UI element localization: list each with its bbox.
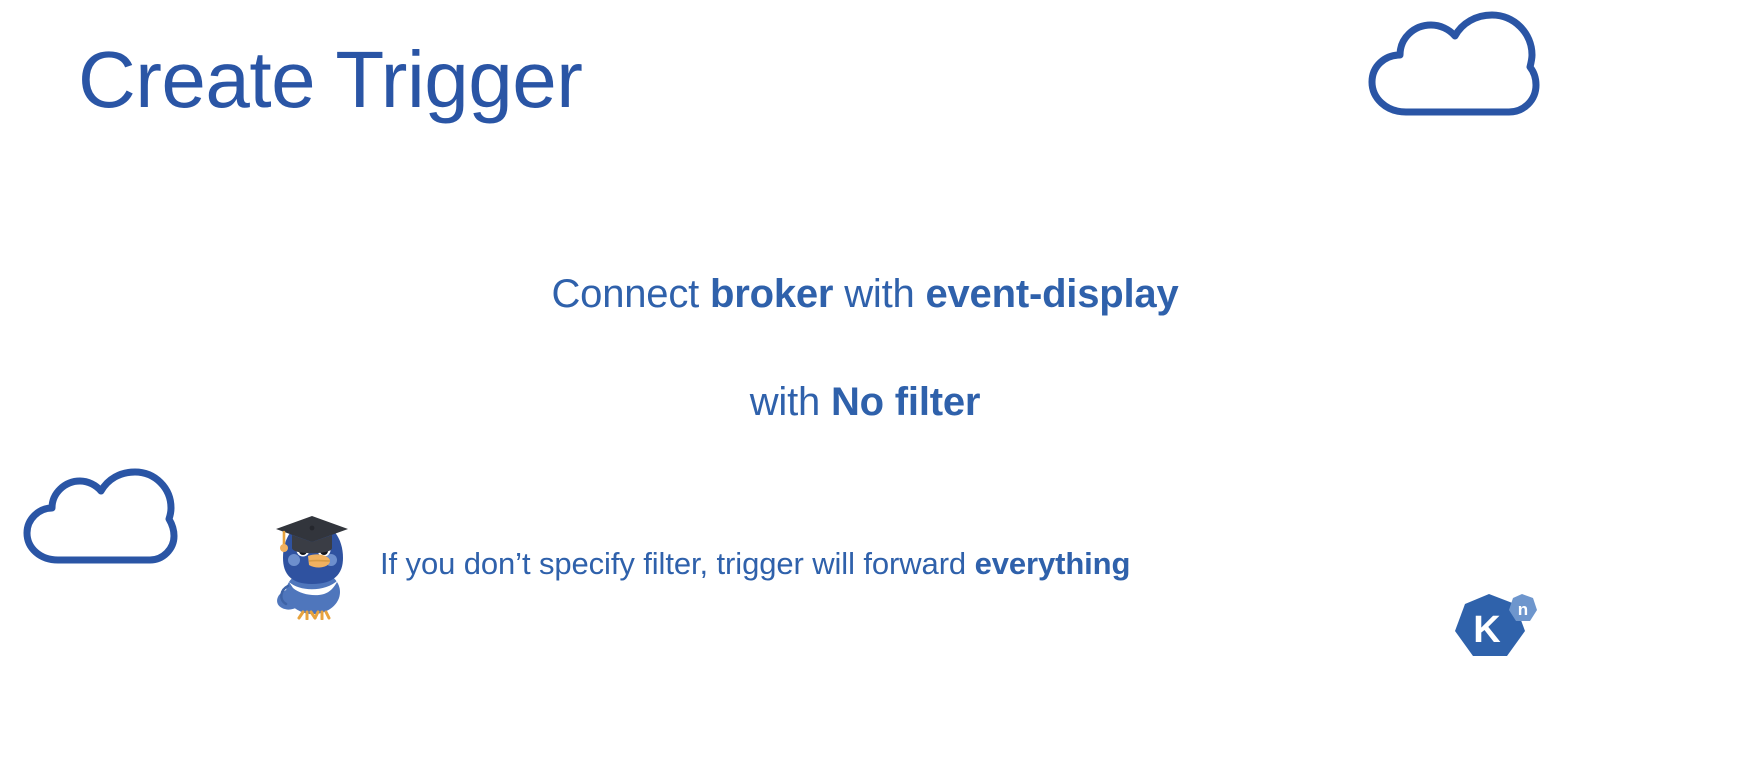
cloud-icon <box>1362 8 1542 126</box>
statement-line-filter: with No filter <box>0 380 1750 425</box>
connect-prefix: Connect <box>551 272 710 316</box>
everything-emphasis: everything <box>975 546 1131 581</box>
knative-logo: K n <box>1443 586 1543 674</box>
event-display-emphasis: event-display <box>925 272 1178 316</box>
svg-text:n: n <box>1518 600 1528 619</box>
page-title: Create Trigger <box>78 34 582 126</box>
cloud-icon <box>18 466 180 572</box>
filter-prefix: with <box>750 380 831 424</box>
no-filter-emphasis: No filter <box>831 380 980 424</box>
graduation-bird-mascot-icon <box>272 508 352 620</box>
note-row: If you don’t specify filter, trigger wil… <box>272 508 1130 620</box>
statement-line-connect: Connect broker with event-display <box>0 272 1750 317</box>
slide-canvas: Create Trigger Connect broker with event… <box>0 0 1750 766</box>
broker-emphasis: broker <box>710 272 833 316</box>
connect-middle: with <box>833 272 925 316</box>
note-text: If you don’t specify filter, trigger wil… <box>380 546 1130 582</box>
note-prefix: If you don’t specify filter, trigger wil… <box>380 546 975 581</box>
svg-text:K: K <box>1473 609 1501 651</box>
